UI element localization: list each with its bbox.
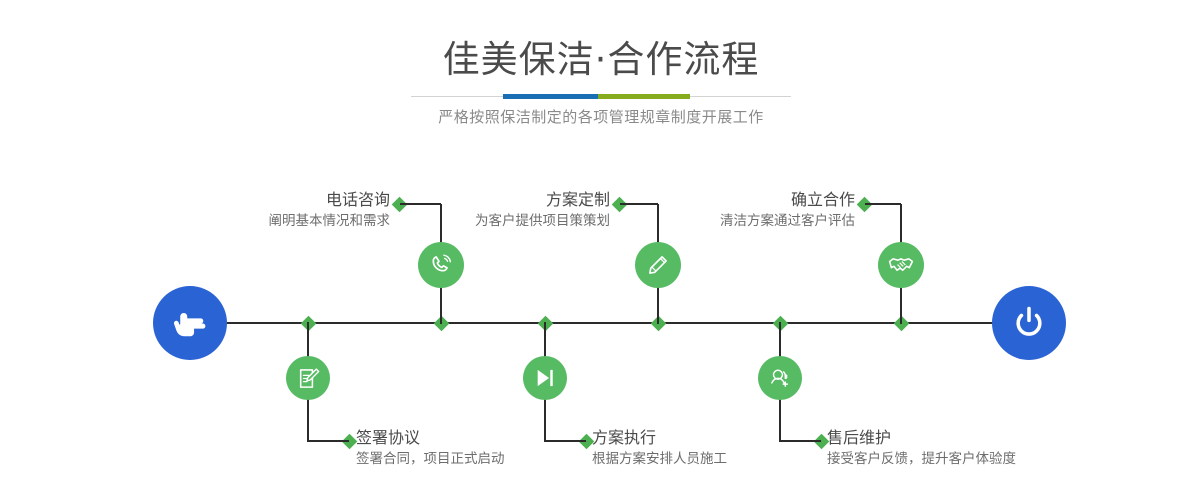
connector-horizontal-bottom-3 [779, 440, 821, 442]
connector-horizontal-top-1 [400, 203, 441, 205]
step-icon-phone-call[interactable] [418, 242, 464, 288]
step-desc: 清洁方案通过客户评估 [540, 211, 855, 231]
process-flow-infographic: 佳美保洁·合作流程 严格按照保洁制定的各项管理规章制度开展工作 [0, 0, 1202, 502]
step-icon-play-skip[interactable] [523, 356, 567, 400]
connector-horizontal-top-3 [865, 203, 901, 205]
title-divider [411, 94, 791, 100]
connector-horizontal-top-2 [620, 203, 658, 205]
page-title: 佳美保洁·合作流程 [0, 38, 1202, 82]
document-sign-icon [296, 366, 321, 391]
step-icon-handshake[interactable] [878, 242, 924, 288]
pointing-hand-icon [170, 303, 210, 343]
pencil-edit-icon [645, 252, 671, 278]
page-subtitle: 严格按照保洁制定的各项管理规章制度开展工作 [0, 106, 1202, 128]
step-title: 确立合作 [540, 189, 855, 211]
divider-blue-segment [503, 94, 598, 99]
phone-call-icon [428, 252, 454, 278]
step-icon-pencil-edit[interactable] [635, 242, 681, 288]
play-skip-icon [532, 365, 558, 391]
end-endpoint-power[interactable] [992, 286, 1066, 360]
step-icon-document-sign[interactable] [286, 356, 330, 400]
connector-horizontal-bottom-1 [307, 440, 349, 442]
step-desc: 接受客户反馈，提升客户体验度 [827, 449, 1202, 469]
step-icon-headset-support[interactable] [758, 356, 802, 400]
step-label-top-3: 确立合作 清洁方案通过客户评估 [540, 189, 855, 231]
step-title: 售后维护 [827, 427, 1202, 449]
step-label-bottom-3: 售后维护 接受客户反馈，提升客户体验度 [827, 427, 1202, 469]
divider-green-segment [598, 94, 690, 99]
handshake-icon [887, 251, 915, 279]
start-endpoint-pointing-hand[interactable] [153, 286, 227, 360]
power-icon [1008, 302, 1050, 344]
headset-support-icon [767, 365, 793, 391]
connector-horizontal-bottom-2 [544, 440, 586, 442]
